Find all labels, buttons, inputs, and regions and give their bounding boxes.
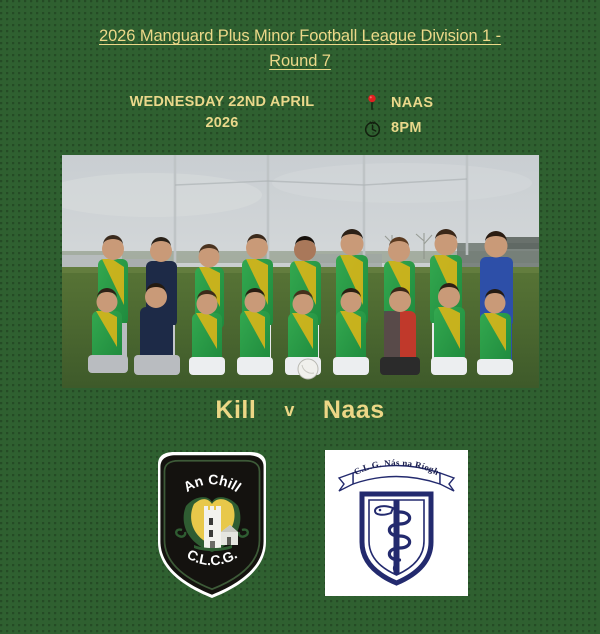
clock-icon — [362, 118, 382, 138]
fixture-date-line-1: WEDNESDAY 22ND APRIL — [130, 94, 315, 110]
fixture-meta: NAAS 8PM — [356, 92, 512, 139]
team-photo — [62, 155, 539, 388]
venue-label: NAAS — [391, 95, 433, 111]
time-label: 8PM — [391, 120, 422, 136]
versus-separator: v — [258, 400, 321, 420]
home-team-name: Kill — [215, 396, 258, 424]
venue-line: NAAS — [362, 92, 512, 114]
naas-gaa-crest: C.L.G. Nás na Ríogh — [325, 450, 468, 596]
kill-gaa-crest: An Chill C.L.C.G. — [150, 446, 274, 602]
fixture-date: WEDNESDAY 22ND APRIL 2026 — [88, 92, 356, 134]
fixture-date-line-2: 2026 — [205, 115, 238, 131]
away-team-name: Naas — [321, 396, 385, 424]
fixture-info-row: WEDNESDAY 22ND APRIL 2026 NAAS — [0, 92, 600, 139]
fixture-poster: 2026 Manguard Plus Minor Football League… — [0, 0, 600, 634]
title-line-2: Round 7 — [269, 52, 331, 70]
time-line: 8PM — [362, 117, 512, 139]
matchup-line: KillvNaas — [0, 396, 600, 425]
location-pin-icon — [362, 93, 382, 113]
title-line-1: 2026 Manguard Plus Minor Football League… — [99, 27, 501, 45]
poster-title: 2026 Manguard Plus Minor Football League… — [0, 24, 600, 74]
